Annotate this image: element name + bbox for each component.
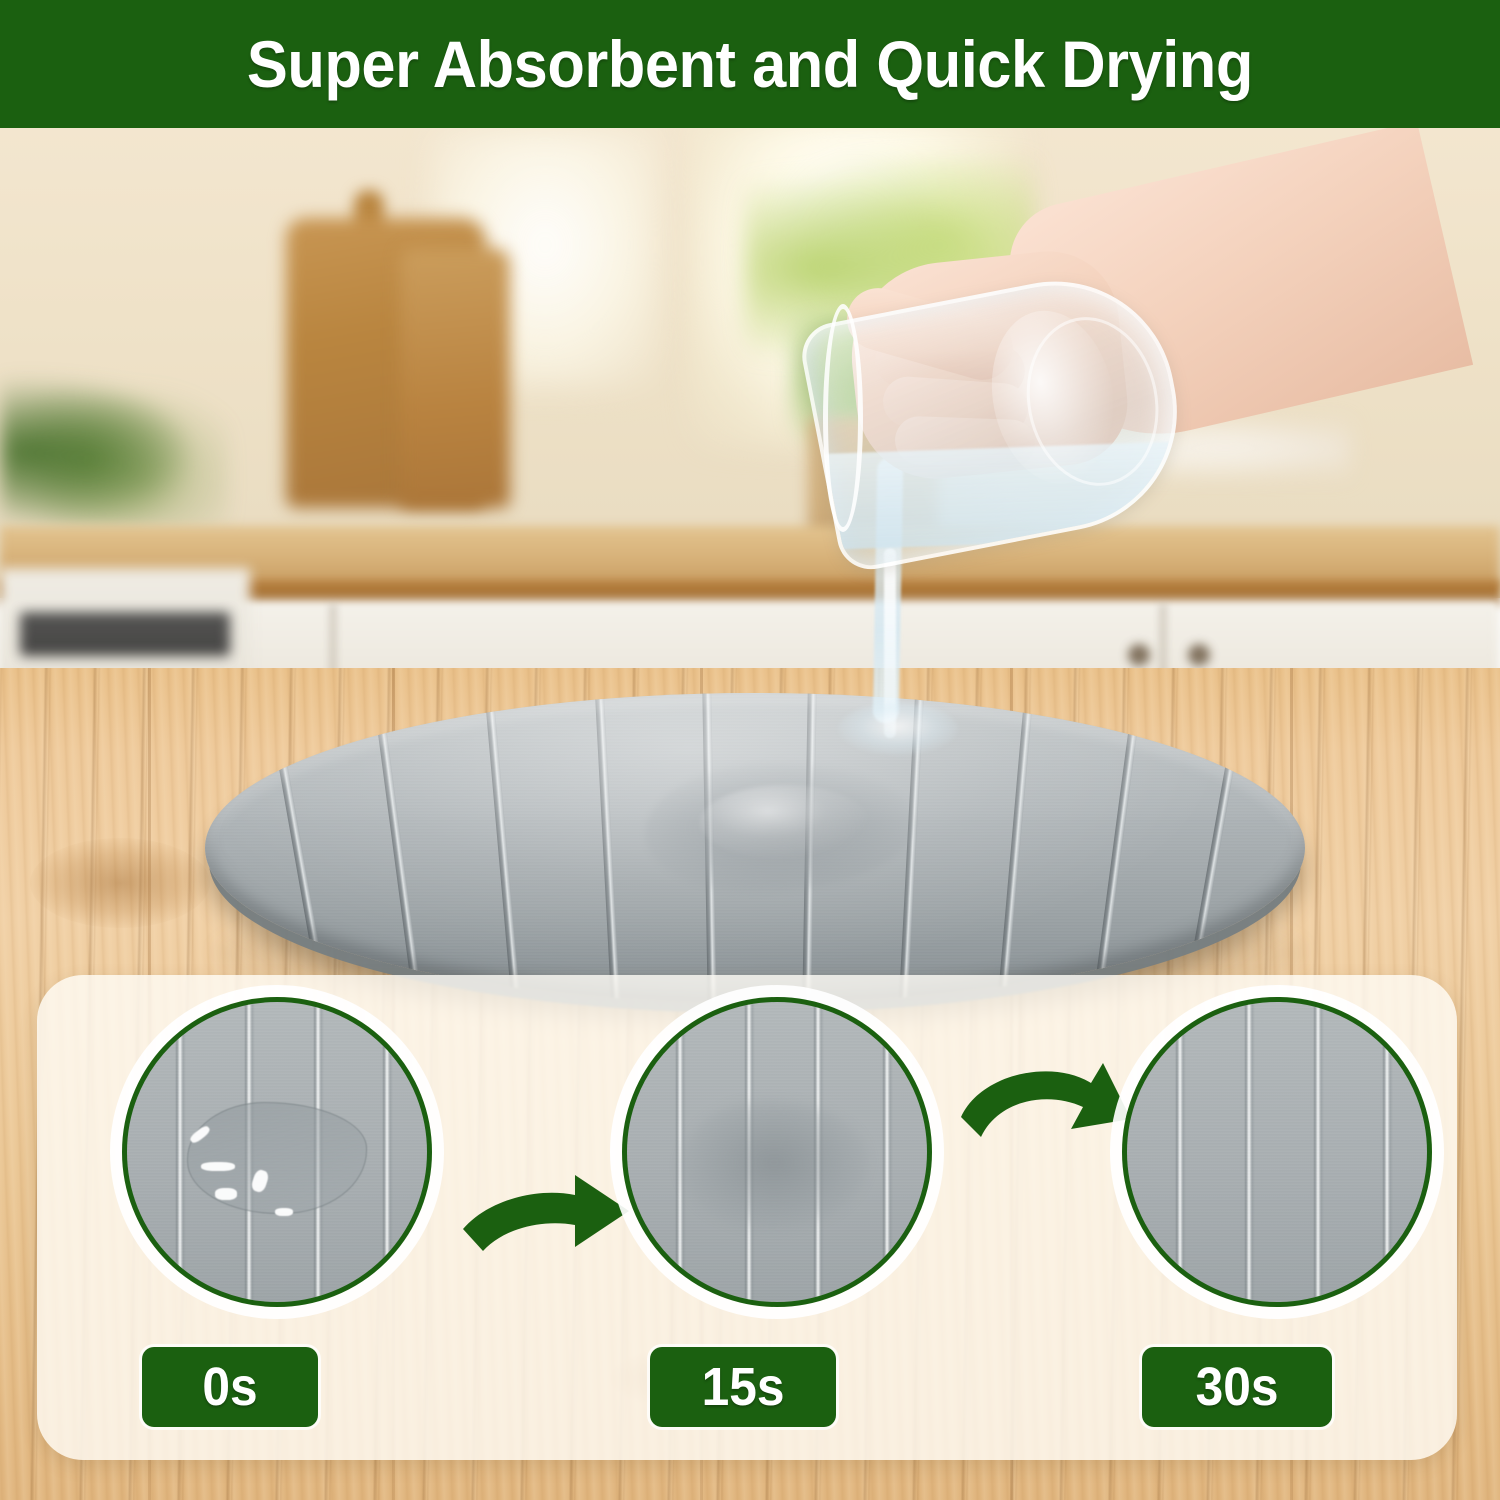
absorption-demo-panel: 0s 15s 30s: [37, 975, 1457, 1460]
step-closeup-30s: [1122, 997, 1432, 1307]
product-infographic: Super Absorbent and Quick Drying: [0, 0, 1500, 1500]
header-banner: Super Absorbent and Quick Drying: [0, 0, 1500, 128]
time-badge-15s: 15s: [650, 1347, 836, 1427]
herb-plants: [0, 358, 230, 528]
absorption-steps: 0s 15s 30s: [37, 975, 1457, 1460]
time-badge-30s-label: 30s: [1196, 1360, 1279, 1414]
appliance-panel: [20, 612, 230, 656]
banner-title: Super Absorbent and Quick Drying: [247, 31, 1253, 97]
step-closeup-15s: [622, 997, 932, 1307]
water-splash: [838, 703, 958, 755]
mat-fine-texture: [1127, 1002, 1427, 1302]
cabinet-knob-icon: [1128, 644, 1150, 666]
wood-knot: [30, 838, 210, 928]
step-closeup-0s: [122, 997, 432, 1307]
puddle-droplet: [215, 1188, 237, 1200]
cutting-board-small: [400, 248, 510, 508]
cabinet-knob-icon: [1188, 644, 1210, 666]
glass-rim: [823, 304, 863, 532]
arrow-15s-to-30s-icon: [957, 1057, 1137, 1167]
time-badge-30s: 30s: [1142, 1347, 1332, 1427]
time-badge-0s: 0s: [142, 1347, 318, 1427]
hand-and-glass: [805, 128, 1425, 588]
puddle-highlight: [275, 1208, 293, 1216]
arrow-0s-to-15s-icon: [457, 1167, 637, 1277]
mat-light-sheen: [205, 693, 1305, 1003]
mat-body: [205, 693, 1305, 1003]
time-badge-0s-label: 0s: [202, 1360, 257, 1414]
time-badge-15s-label: 15s: [702, 1360, 785, 1414]
puddle-highlight: [201, 1162, 235, 1171]
